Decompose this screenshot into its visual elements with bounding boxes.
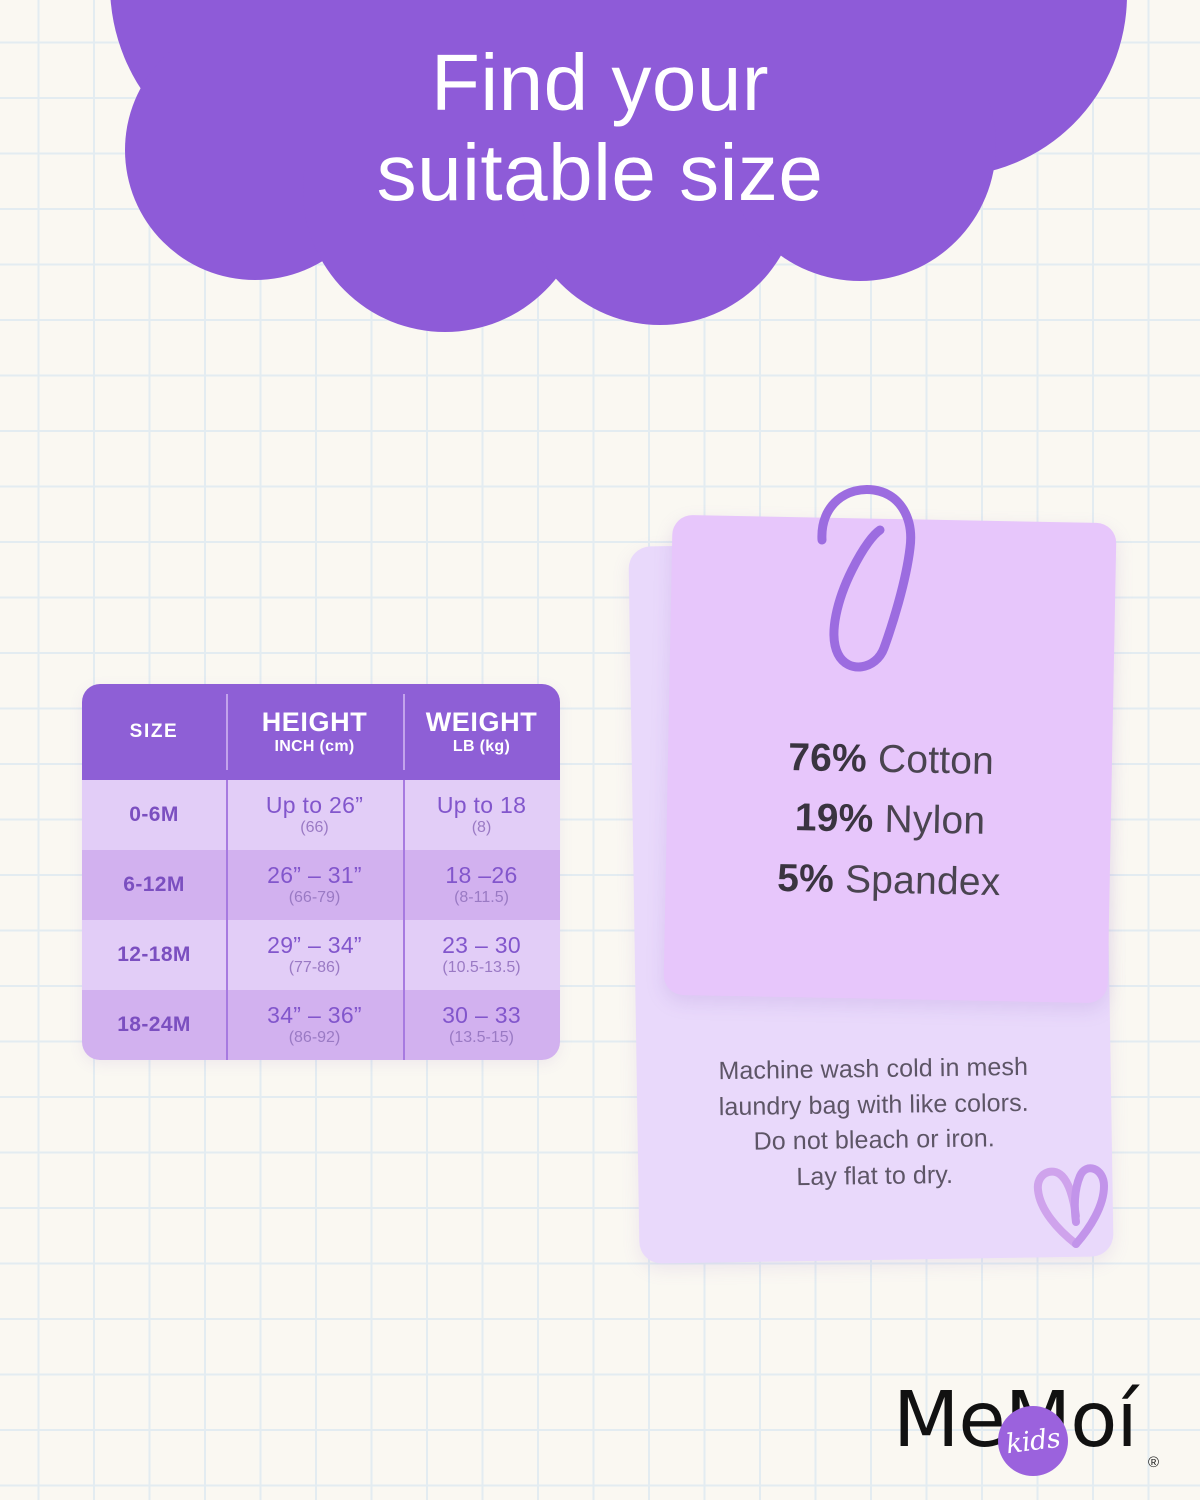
table-cell-weight-lb: 30 – 33	[442, 1003, 521, 1028]
table-cell-size-value: 18-24M	[117, 1013, 191, 1037]
table-cell-size-value: 0-6M	[129, 803, 178, 827]
table-header-height-unit: INCH (cm)	[274, 738, 354, 756]
table-row: 6-12M 26” – 31” (66-79) 18 –26 (8-11.5)	[82, 850, 560, 920]
table-cell-weight-kg: (10.5-13.5)	[442, 959, 520, 977]
table-header-weight: WEIGHT LB (kg)	[403, 684, 560, 780]
table-header-row: SIZE HEIGHT INCH (cm) WEIGHT LB (kg)	[82, 684, 560, 780]
table-cell-height-inch: 26” – 31”	[267, 863, 362, 888]
table-cell-weight-kg: (13.5-15)	[449, 1029, 514, 1047]
table-cell-height-inch: Up to 26”	[266, 793, 363, 818]
table-header-size: SIZE	[82, 684, 226, 780]
table-cell-size: 12-18M	[82, 920, 226, 990]
table-cell-height-inch: 29” – 34”	[267, 933, 362, 958]
table-cell-height: 29” – 34” (77-86)	[226, 920, 403, 990]
heart-icon	[1024, 1152, 1124, 1257]
table-cell-size-value: 6-12M	[123, 873, 185, 897]
table-cell-height-cm: (77-86)	[289, 959, 341, 977]
table-cell-weight: Up to 18 (8)	[403, 780, 560, 850]
size-chart-table: SIZE HEIGHT INCH (cm) WEIGHT LB (kg) 0-6…	[82, 684, 560, 1060]
registered-trademark-icon: ®	[1148, 1454, 1159, 1471]
table-cell-size: 18-24M	[82, 990, 226, 1060]
table-cell-weight: 30 – 33 (13.5-15)	[403, 990, 560, 1060]
table-cell-size: 0-6M	[82, 780, 226, 850]
table-header-weight-unit: LB (kg)	[453, 738, 510, 756]
fabric-line: 5% Spandex	[666, 847, 1111, 916]
fabric-composition-list: 76% Cotton 19% Nylon 5% Spandex	[666, 726, 1113, 916]
fabric-material: Spandex	[834, 858, 1001, 904]
fabric-line: 19% Nylon	[667, 786, 1112, 855]
table-cell-size-value: 12-18M	[117, 943, 191, 967]
table-row: 18-24M 34” – 36” (86-92) 30 – 33 (13.5-1…	[82, 990, 560, 1060]
table-header-weight-label: WEIGHT	[426, 708, 538, 736]
table-cell-height: Up to 26” (66)	[226, 780, 403, 850]
fabric-percent: 76%	[788, 736, 867, 781]
table-cell-weight-kg: (8)	[472, 819, 492, 837]
kids-badge-label: kids	[1004, 1422, 1062, 1459]
fabric-material: Nylon	[873, 798, 986, 843]
table-header-size-label: SIZE	[130, 721, 179, 743]
fabric-material: Cotton	[867, 738, 995, 783]
table-cell-height-cm: (86-92)	[289, 1029, 341, 1047]
table-row: 0-6M Up to 26” (66) Up to 18 (8)	[82, 780, 560, 850]
table-cell-weight-kg: (8-11.5)	[454, 889, 509, 907]
table-cell-weight: 18 –26 (8-11.5)	[403, 850, 560, 920]
fabric-percent: 5%	[777, 857, 835, 901]
table-header-height-label: HEIGHT	[262, 708, 368, 736]
page-title: Find your suitable size	[0, 38, 1200, 217]
table-cell-height-cm: (66)	[300, 819, 328, 837]
table-cell-weight-lb: 18 –26	[445, 863, 517, 888]
table-row: 12-18M 29” – 34” (77-86) 23 – 30 (10.5-1…	[82, 920, 560, 990]
table-cell-size: 6-12M	[82, 850, 226, 920]
kids-badge: kids	[998, 1406, 1068, 1476]
table-cell-height-cm: (66-79)	[289, 889, 341, 907]
table-cell-height-inch: 34” – 36”	[267, 1003, 362, 1028]
brand-logo: MeMoí kids ®	[893, 1382, 1183, 1482]
fabric-line: 76% Cotton	[669, 726, 1114, 795]
table-header-height: HEIGHT INCH (cm)	[226, 684, 403, 780]
table-cell-height: 26” – 31” (66-79)	[226, 850, 403, 920]
table-cell-weight: 23 – 30 (10.5-13.5)	[403, 920, 560, 990]
paperclip-icon	[800, 478, 930, 678]
fabric-percent: 19%	[794, 797, 873, 842]
table-cell-weight-lb: Up to 18	[437, 793, 526, 818]
table-cell-weight-lb: 23 – 30	[442, 933, 521, 958]
table-cell-height: 34” – 36” (86-92)	[226, 990, 403, 1060]
